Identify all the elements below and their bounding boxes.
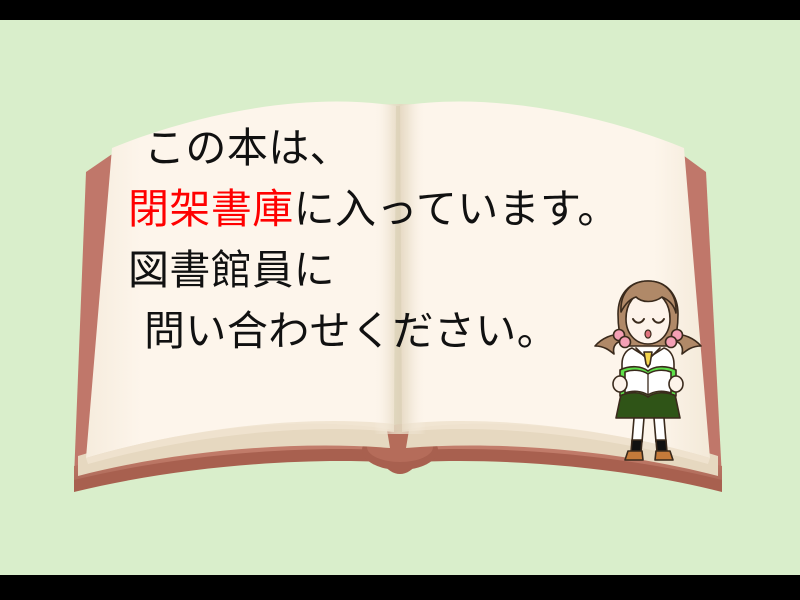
shoe-right bbox=[655, 451, 673, 460]
leg-left bbox=[632, 418, 644, 442]
leg-right bbox=[654, 418, 666, 442]
message-line-1: この本は、 bbox=[128, 118, 688, 179]
shoe-left bbox=[625, 451, 643, 460]
hand-left bbox=[613, 376, 627, 392]
held-book bbox=[620, 367, 676, 397]
message-line-1-text: この本は、 bbox=[144, 125, 351, 171]
message-line-2-text: に入っています。 bbox=[294, 186, 619, 232]
mouth bbox=[645, 330, 651, 338]
message-line-3-text: 図書館員に bbox=[128, 247, 335, 293]
girl-reading-book bbox=[592, 272, 704, 462]
letterbox-bar-bottom bbox=[0, 575, 800, 600]
message-line-4-text: 問い合わせください。 bbox=[144, 308, 558, 354]
screenshot-canvas: この本は、 閉架書庫に入っています。 図書館員に 問い合わせください。 bbox=[0, 0, 800, 600]
closed-stacks-highlight: 閉架書庫 bbox=[128, 186, 294, 232]
hand-right bbox=[669, 376, 683, 392]
letterbox-bar-top bbox=[0, 0, 800, 20]
message-line-2: 閉架書庫に入っています。 bbox=[128, 179, 688, 240]
